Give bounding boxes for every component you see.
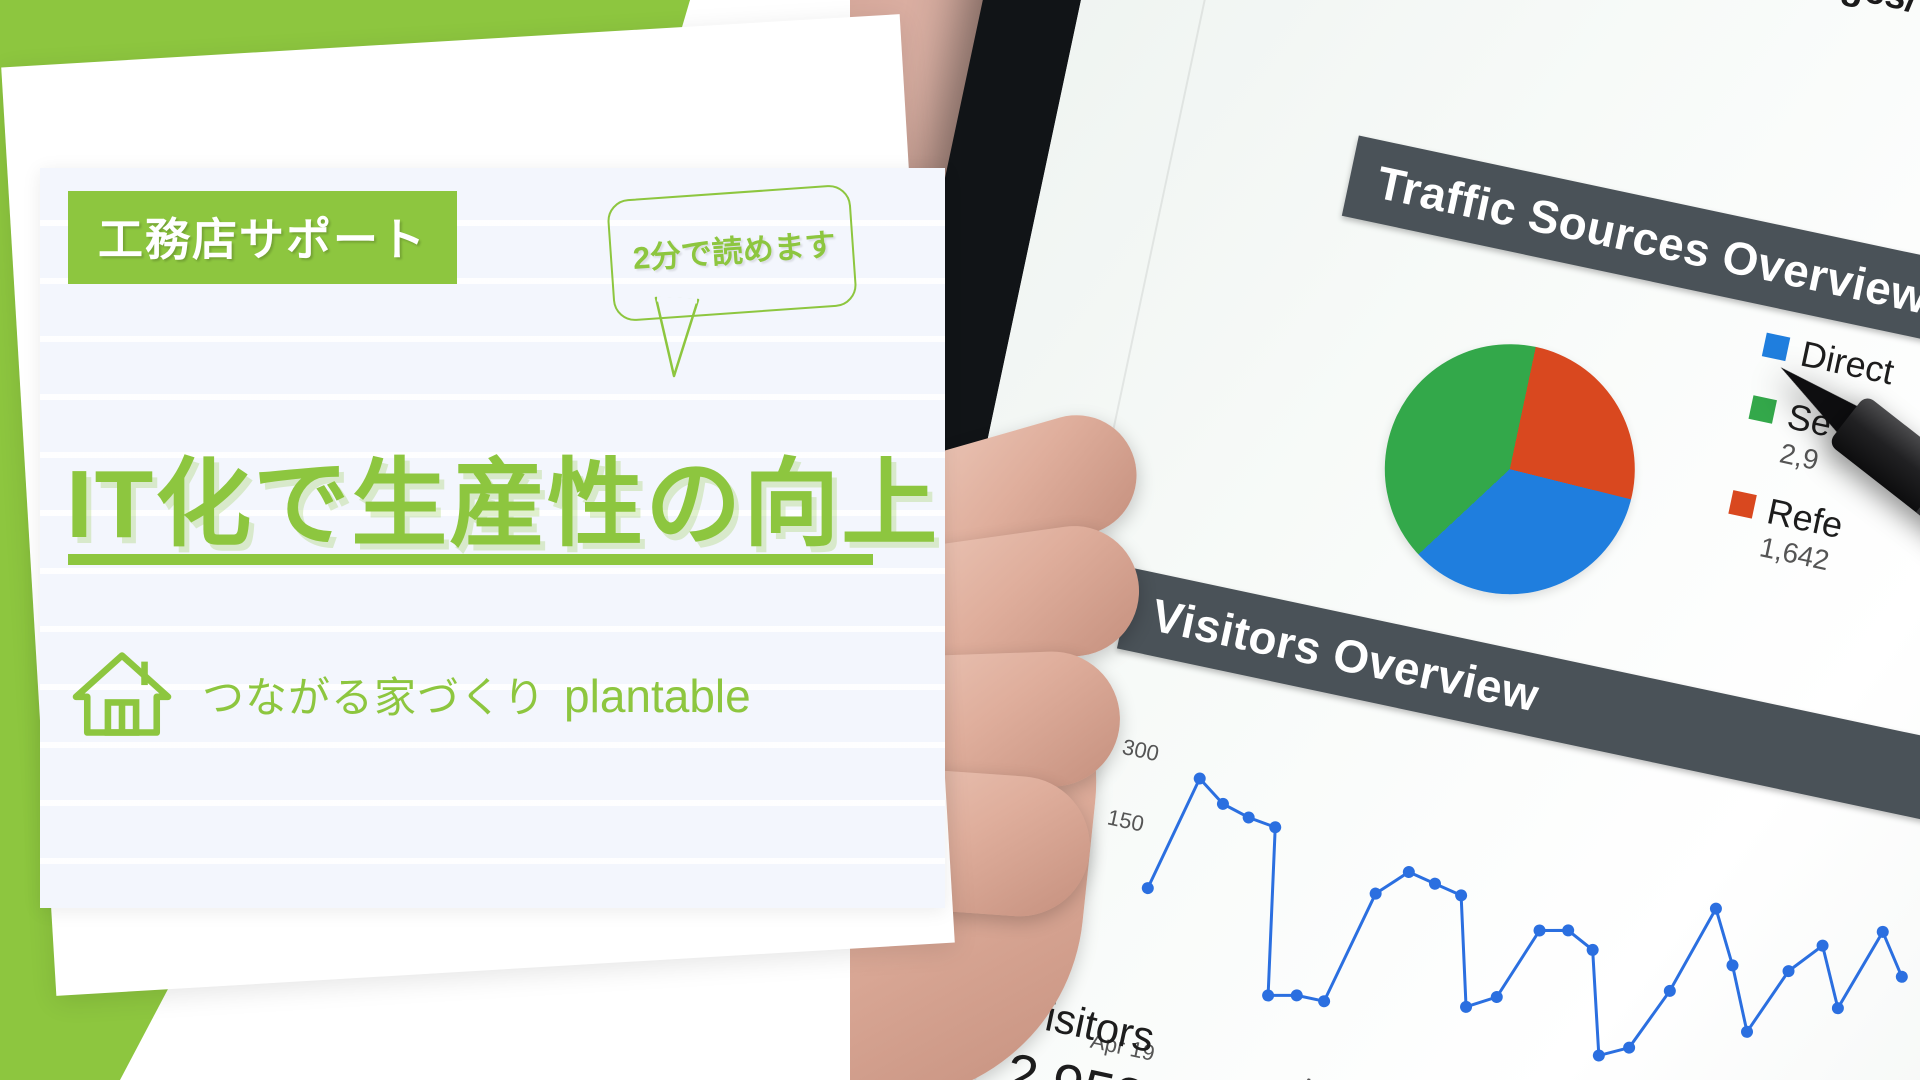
house-icon	[70, 648, 174, 740]
tagline-text: つながる家づくり	[202, 674, 546, 721]
brand-name: plantable	[564, 670, 751, 722]
brand-footer: つながる家づくりplantable	[70, 648, 751, 740]
bubble-tail-icon	[640, 296, 760, 384]
category-tag[interactable]: 工務店サポート	[68, 191, 457, 284]
legend-text-referral: Refe 1,642	[1757, 490, 1847, 579]
banner-eyecatch: 3.32Pages/Visit Traffic Sources Overview…	[0, 0, 1920, 1080]
content-card: 工務店サポート 2分で読めます IT化で生産性の向上	[40, 168, 945, 908]
reading-time-bubble: 2分で読めます	[610, 178, 880, 378]
brand-tagline: つながる家づくりplantable	[202, 664, 751, 725]
tablet-analytics-photo: 3.32Pages/Visit Traffic Sources Overview…	[850, 0, 1920, 1080]
legend-item: Refe 1,642	[1720, 482, 1865, 582]
legend-swatch-direct	[1762, 333, 1790, 361]
page-title: IT化で生産性の向上	[66, 426, 939, 565]
legend-swatch-referral	[1728, 490, 1756, 518]
title-underline	[68, 554, 873, 565]
